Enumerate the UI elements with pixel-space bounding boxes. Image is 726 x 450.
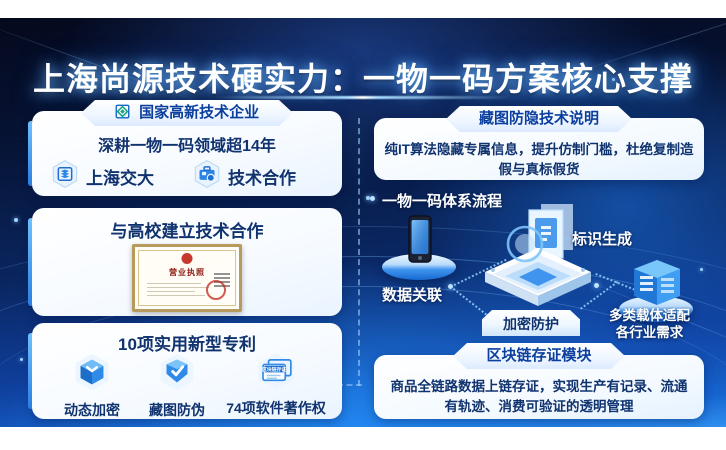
ribbon-national-hightech-label: 国家高新技术企业 [139,104,259,121]
panel-hidden-graphic-tech-body: 纯IT算法隐藏专属信息，提升仿制门槛，杜绝复制造假与真标假货 [384,140,694,179]
data-rack-icon [630,258,684,315]
panel-hidden-graphic-tech[interactable]: 藏图防隐技术说明 纯IT算法隐藏专属信息，提升仿制门槛，杜绝复制造假与真标假货 [374,118,704,180]
flow-node-label-id-generation: 标识生成 [572,228,632,249]
certificate-top-seal [182,253,193,264]
certificate-line-2 [147,287,209,288]
patent-item-software-copyright[interactable]: 区块链存证 74项软件著作权 [220,351,332,418]
card1-item-sjtu[interactable]: 上海交大 [50,159,154,194]
certificate-line-3 [147,291,195,292]
hero-banner: 上海尚源技术硬实力：一物一码方案核心支撑 国家高新技术企业 深耕一物一码领域超1… [0,18,726,427]
card-university-cooperation[interactable]: 与高校建立技术合作 营业执照 [32,208,342,316]
certificate-line-1 [147,283,201,284]
patent-item-dynamic-encryption[interactable]: 动态加密 [54,351,130,420]
patent-item-anti-counterfeit-label: 藏图防伪 [139,400,215,420]
ribbon-blockchain-module: 区块链存证模块 [453,343,625,369]
patent-item-anti-counterfeit[interactable]: 藏图防伪 [139,351,215,420]
diamond-badge-icon [115,102,130,128]
title-underline-glow [213,96,513,99]
ribbon-hidden-graphic-tech-label: 藏图防隐技术说明 [479,110,599,127]
smartphone-icon [403,214,437,273]
card-national-hightech[interactable]: 国家高新技术企业 深耕一物一码领域超14年 上海交大 [32,111,342,196]
flow-chip-encryption-label: 加密防护 [503,316,559,332]
patent-item-dynamic-encryption-label: 动态加密 [54,400,130,420]
column-divider [358,118,360,386]
screenshot-root: 上海尚源技术硬实力：一物一码方案核心支撑 国家高新技术企业 深耕一物一码领域超1… [0,0,726,450]
flow-node-label-multi-carrier: 多类载体适配 各行业需求 [609,308,690,342]
card2-title: 与高校建立技术合作 [32,217,342,242]
book-stack-icon [50,159,80,194]
ribbon-blockchain-module-label: 区块链存证模块 [486,347,591,364]
card1-item-tech-coop[interactable]: 技术合作 [192,159,296,194]
flow-title-bullet [370,196,375,201]
ribbon-national-hightech: 国家高新技术企业 [81,100,293,126]
ribbon-hidden-graphic-tech: 藏图防隐技术说明 [446,106,632,132]
shield-check-icon [156,380,198,397]
panel-blockchain-module[interactable]: 区块链存证模块 商品全链路数据上链存证，实现生产有记录、流通有轨迹、消费可验证的… [374,355,704,419]
panel-blockchain-module-body: 商品全链路数据上链存证，实现生产有记录、流通有轨迹、消费可验证的透明管理 [384,377,694,416]
card-patents[interactable]: 10项实用新型专利 动态加密 [32,323,342,419]
card1-item-sjtu-label: 上海交大 [86,164,154,189]
bg-dot-1 [14,218,18,222]
server-disc-icon [479,202,597,317]
flow-joint-left [448,284,453,289]
business-license-icon: 营业执照 [132,244,242,312]
card1-item-tech-coop-label: 技术合作 [228,164,296,189]
bg-dot-6 [700,268,703,271]
certificate-line-4 [147,295,205,296]
certificate-stamp [206,280,226,300]
briefcase-icon [192,159,222,194]
flow-chip-encryption[interactable]: 加密防护 [482,310,580,336]
cube-lock-icon [71,380,113,397]
flow-node-label-data-link: 数据关联 [382,284,442,305]
bg-dot-5 [20,358,23,361]
card1-subtitle: 深耕一物一码领域超14年 [32,132,342,156]
blockchain-doc-icon: 区块链存证 [250,378,302,395]
patent-item-software-copyright-label: 74项软件著作权 [220,398,332,418]
page-title: 上海尚源技术硬实力：一物一码方案核心支撑 [0,54,726,100]
